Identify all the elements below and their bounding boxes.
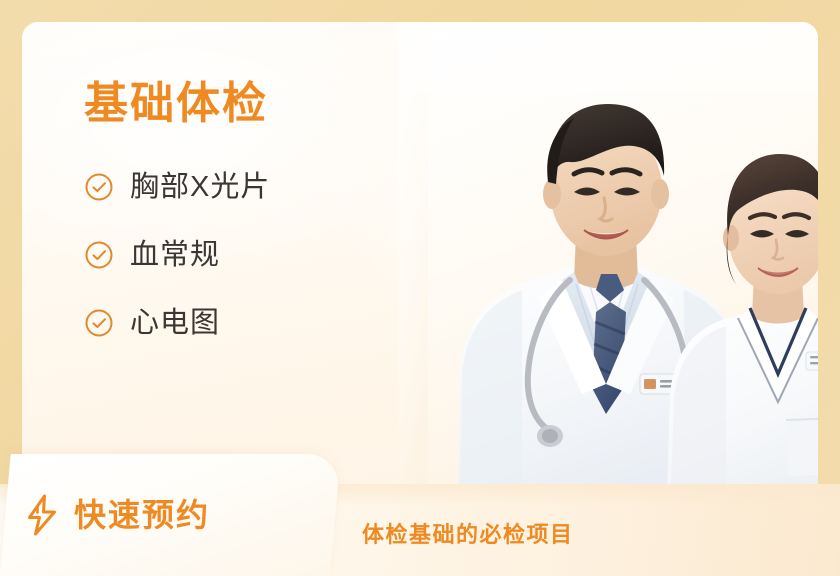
list-item-label: 胸部X光片	[130, 173, 270, 202]
quick-booking-button[interactable]: 快速预约	[0, 454, 330, 576]
circle-check-icon	[84, 172, 114, 202]
list-item-label: 心电图	[130, 309, 220, 338]
promo-banner: 基础体检 胸部X光片	[0, 0, 840, 576]
quick-booking-label: 快速预约	[74, 499, 210, 531]
list-item-label: 血常规	[130, 241, 220, 270]
list-item: 心电图	[84, 308, 424, 338]
banner-subtitle: 体检基础的必检项目	[362, 524, 574, 546]
circle-check-icon	[84, 308, 114, 338]
list-item: 胸部X光片	[84, 172, 424, 202]
list-item: 血常规	[84, 240, 424, 270]
page-title: 基础体检	[84, 82, 424, 126]
checklist: 胸部X光片 血常规	[84, 172, 424, 338]
offer-details: 基础体检 胸部X光片	[84, 82, 424, 376]
medical-staff-photo	[398, 22, 818, 522]
lightning-bolt-icon	[24, 493, 60, 537]
circle-check-icon	[84, 240, 114, 270]
